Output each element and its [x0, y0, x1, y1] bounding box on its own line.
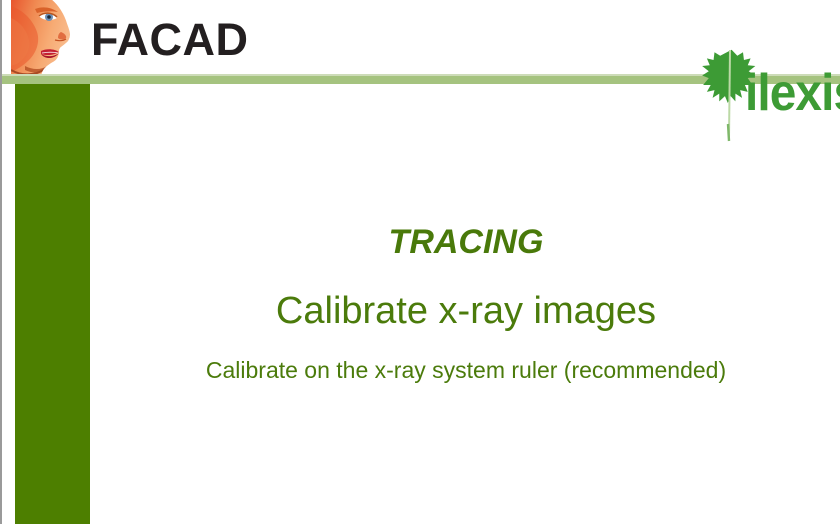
section-label: TRACING	[90, 225, 840, 259]
slide-heading: Calibrate x-ray images	[90, 292, 840, 330]
pupil	[47, 15, 51, 19]
facad-face-profile-logo	[11, 0, 79, 78]
page-title: FACAD	[91, 17, 249, 62]
sidebar-accent-bar	[15, 84, 90, 524]
slide-subheading: Calibrate on the x-ray system ruler (rec…	[90, 359, 840, 382]
slide-content: TRACING Calibrate x-ray images Calibrate…	[90, 84, 840, 524]
presentation-slide: FACAD ilexis TRACING Calibrate x-ray ima…	[0, 0, 840, 524]
